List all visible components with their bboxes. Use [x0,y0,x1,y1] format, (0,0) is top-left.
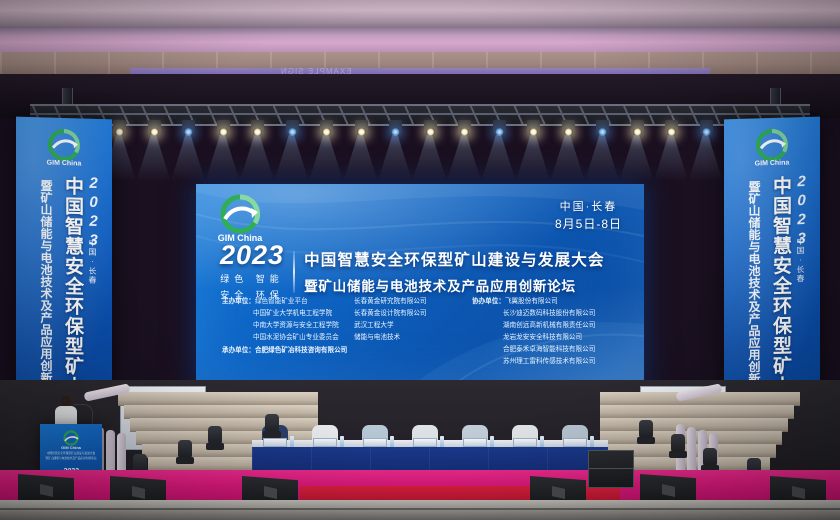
ceiling-cornice [0,0,840,30]
name-card [413,438,437,447]
screen-city: 中国·长春 [555,200,622,216]
moving-head-light [636,418,656,444]
water-bottle [390,436,394,447]
light-beam [413,135,447,181]
light-base [206,443,224,450]
light-beam [585,135,619,181]
name-card [363,438,387,447]
banner-left-subtitle: 暨矿山储能与电池技术及产品应用创新论坛 [40,179,52,407]
name-card [313,438,337,447]
spotlight-fixture [217,120,230,137]
spotlight-fixture [320,120,333,137]
spotlight-fixture [493,120,506,137]
spotlight-fixture [665,120,678,137]
spotlight-fixture [355,120,368,137]
organizer-item: 主办单位：绿色智能矿业平台 [222,296,354,308]
screen-year: 2023 [220,242,284,269]
organizer-item: 苏州理工雷科传感技术有限公司 [472,356,595,368]
banner-right-subtitle: 暨矿山储能与电池技术及产品应用创新论坛 [748,180,760,408]
moving-head-light [205,424,225,450]
organizer-column-cohost: 协办单位：飞翼股份有限公司长沙迪迈数码科技股份有限公司湖南创远高新机械有限责任公… [472,296,595,368]
light-beam [206,135,240,181]
stage-step [124,405,318,419]
screen-title-block: 2023 绿色 智能 安全 环保 中国智慧安全环保型矿山建设与发展大会 暨矿山储… [220,242,605,301]
light-base [263,431,281,438]
moving-head-light [668,432,688,458]
spotlight-fixture [113,120,126,137]
organizer-item: 长春黄金设计院有限公司 [354,308,472,320]
banner-right-city: 中国·长春 [796,237,804,283]
light-beam [654,135,688,181]
ceiling-cove-light [0,28,840,54]
conference-stage-photo: EXAMPLE SIGN GIM China 中国智慧安全环保型矿山建设与发展大… [0,0,840,520]
screen-dates: 8月5日-8日 [555,216,622,233]
light-beam [620,135,654,181]
organizer-item: 长春黄金研究院有限公司 [354,296,472,308]
water-bottle [540,436,544,447]
spotlight-fixture [458,120,471,137]
name-card [463,438,487,447]
organizer-item: 湖南创远高新机械有限责任公司 [472,320,595,332]
baluster [687,427,696,474]
pillar-banner-right: GIM China 中国智慧安全环保型矿山建设与发展大会 暨矿山储能与电池技术及… [724,117,820,420]
name-card [263,438,287,447]
organizer-item: 储能与电池技术 [354,332,472,344]
podium-title-line2: 暨矿山储能与电池技术及产品应用创新论坛 [40,457,102,462]
svg-text:GIM China: GIM China [61,445,82,450]
banner-left-logo-icon: GIM China [43,127,85,173]
organizer-column-host1: 主办单位：绿色智能矿业平台中国矿业大学机电工程学院中南大学资源与安全工程学院中国… [222,296,354,368]
light-beam [378,135,412,181]
spotlight-fixture [527,120,540,137]
spotlight-fixture [286,120,299,137]
spotlight-fixture [562,120,575,137]
screen-year-block: 2023 绿色 智能 安全 环保 [220,242,284,301]
water-bottle [590,436,594,447]
led-stage-screen: GIM China 中国·长春 8月5日-8日 2023 绿色 智能 安全 环保… [196,184,644,390]
spotlight-fixture [389,120,402,137]
stage-step [118,392,318,406]
light-beam [240,135,274,181]
screen-organizers: 主办单位：绿色智能矿业平台中国矿业大学机电工程学院中南大学资源与安全工程学院中国… [222,296,632,368]
light-base [669,451,687,458]
organizer-item: 中国水泥协会矿山专业委员会 [222,332,354,344]
spotlight-fixture [700,120,713,137]
baluster [106,430,115,474]
light-beam [309,135,343,181]
podium-title-line1: 中国智慧安全环保型矿山建设与发展大会 [40,452,102,457]
light-beam [171,135,205,181]
water-bottle [440,436,444,447]
organizer-item: 中国矿业大学机电工程学院 [222,308,354,320]
banner-left-city: 中国·长春 [88,239,96,285]
banner-right-logo-icon: GIM China [751,127,793,173]
screen-main-titles: 中国智慧安全环保型矿山建设与发展大会 暨矿山储能与电池技术及产品应用创新论坛 [304,248,605,295]
organizer-item: 合肥泰禾卓海智能科技有限公司 [472,344,595,356]
organizer-item: 武汉工程大学 [354,320,472,332]
spotlight-fixture [251,120,264,137]
light-base [637,437,655,444]
light-beam [482,135,516,181]
svg-text:GIM China: GIM China [47,160,82,168]
light-beam [516,135,550,181]
spotlight-fixture [424,120,437,137]
organizer-item: 协办单位：飞翼股份有限公司 [472,296,595,308]
baluster [117,433,126,474]
moving-head-light [175,438,195,464]
screen-title-line2: 暨矿山储能与电池技术及产品应用创新论坛 [304,275,605,295]
organizer-column-host2: 长春黄金研究院有限公司长春黄金设计院有限公司武汉工程大学储能与电池技术 [354,296,472,368]
organizer-value: 合肥绿色矿冶科技咨询有限公司 [255,347,347,354]
water-bottle [290,436,294,447]
light-beam [344,135,378,181]
organizer-bottom-line: 承办单位：合肥绿色矿冶科技咨询有限公司 [222,344,347,354]
organizer-group-label: 主办单位： [222,298,255,305]
podium-title-block: 中国智慧安全环保型矿山建设与发展大会 暨矿山储能与电池技术及产品应用创新论坛 [40,452,102,461]
pillar-banner-left: GIM China 中国智慧安全环保型矿山建设与发展大会 暨矿山储能与电池技术及… [16,117,112,420]
screen-date-location: 中国·长春 8月5日-8日 [555,200,622,233]
light-beam [689,135,723,181]
water-bottle [340,436,344,447]
screen-title-line1: 中国智慧安全环保型矿山建设与发展大会 [304,248,605,270]
spotlight-fixture [596,120,609,137]
organizer-item: 长沙迪迈数码科技股份有限公司 [472,308,595,320]
stage-front-lip [0,500,840,520]
spotlight-fixture [148,120,161,137]
moving-head-light [700,446,720,472]
organizer-label: 承办单位： [222,347,255,354]
name-card [563,438,587,447]
screen-slogan-line1: 绿色 智能 [220,272,284,285]
water-bottle [490,436,494,447]
screen-divider [293,251,295,293]
equipment-road-case [588,450,634,488]
moving-head-light [262,412,282,438]
spotlight-fixture [182,120,195,137]
organizer-group-label: 协办单位： [472,298,505,305]
organizer-item: 龙岩龙安安全科技有限公司 [472,332,595,344]
light-beam [447,135,481,181]
light-beam [137,135,171,181]
light-beam [275,135,309,181]
spotlight-fixture [631,120,644,137]
light-beam [551,135,585,181]
light-base [176,457,194,464]
name-card [513,438,537,447]
svg-text:GIM China: GIM China [755,160,790,168]
organizer-item: 中南大学资源与安全工程学院 [222,320,354,332]
